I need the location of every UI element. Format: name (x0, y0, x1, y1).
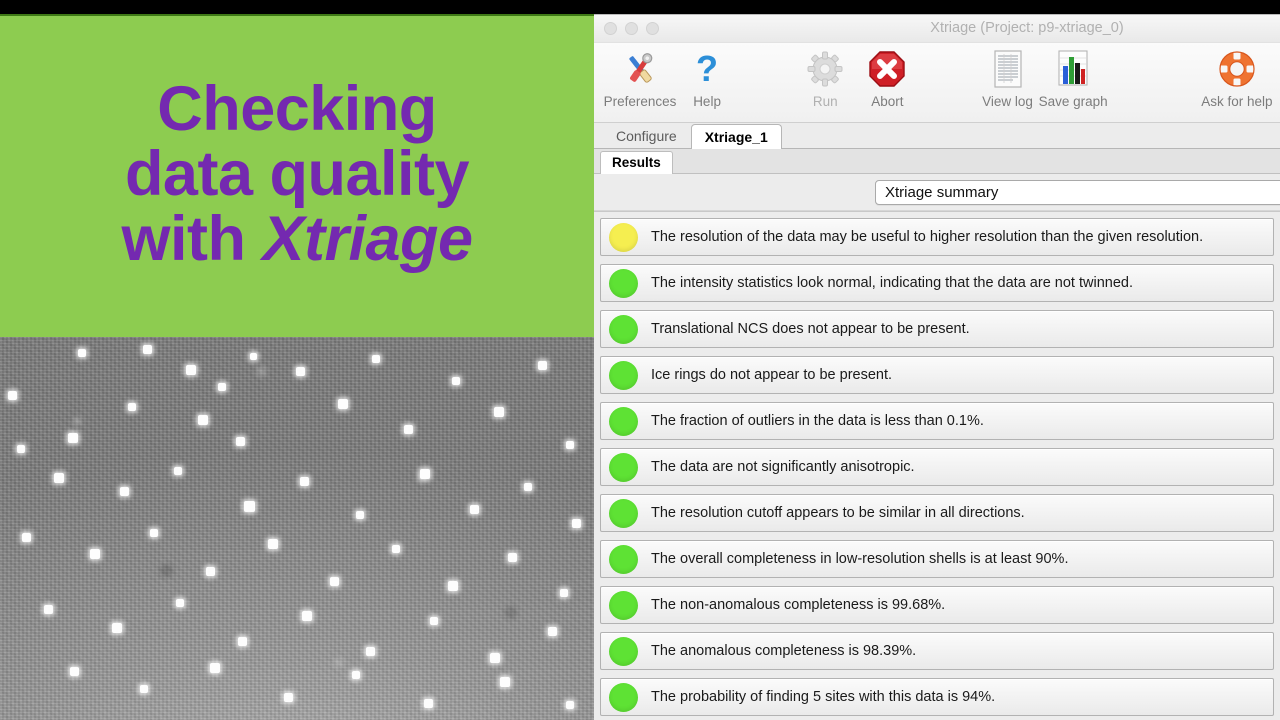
tab-configure[interactable]: Configure (602, 123, 691, 148)
main-toolbar: Preferences ? Help (594, 43, 1280, 123)
svg-text:?: ? (696, 50, 718, 88)
result-text: The overall completeness in low-resoluti… (651, 551, 1068, 567)
toolbar-button-save-graph[interactable]: Save graph (1039, 47, 1108, 109)
toolbar-button-view-log[interactable]: View log (976, 47, 1038, 109)
toolbar-label-run: Run (813, 94, 838, 109)
slide-title-line-3-text: with (121, 204, 262, 274)
question-mark-icon: ? (690, 47, 724, 91)
result-text: The intensity statistics look normal, in… (651, 275, 1133, 291)
toolbar-label-view-log: View log (982, 94, 1033, 109)
diffraction-grain (0, 337, 594, 720)
slide-title-panel: Checking data quality with Xtriage (0, 14, 594, 337)
results-subtabbar: Results (594, 149, 1280, 174)
status-indicator-green-icon (609, 361, 638, 390)
result-row[interactable]: The fraction of outliers in the data is … (600, 402, 1274, 440)
results-list[interactable]: The resolution of the data may be useful… (594, 211, 1280, 720)
slide-title-line-1: Checking (157, 77, 437, 142)
toolbar-label-preferences: Preferences (604, 94, 677, 109)
window-titlebar: Xtriage (Project: p9-xtriage_0) (594, 15, 1280, 43)
result-text: The fraction of outliers in the data is … (651, 413, 984, 429)
toolbar-button-abort[interactable]: Abort (856, 47, 918, 109)
result-row[interactable]: The anomalous completeness is 98.39%. (600, 632, 1274, 670)
subtab-results[interactable]: Results (600, 151, 673, 174)
result-row[interactable]: The overall completeness in low-resoluti… (600, 540, 1274, 578)
result-text: Translational NCS does not appear to be … (651, 321, 970, 337)
result-row[interactable]: Translational NCS does not appear to be … (600, 310, 1274, 348)
result-row[interactable]: Ice rings do not appear to be present. (600, 356, 1274, 394)
result-row[interactable]: The non-anomalous completeness is 99.68%… (600, 586, 1274, 624)
toolbar-button-ask-for-help[interactable]: Ask for help (1194, 47, 1280, 109)
project-tabbar: Configure Xtriage_1 (594, 123, 1280, 149)
stop-x-icon (869, 47, 905, 91)
status-indicator-green-icon (609, 407, 638, 436)
tab-xtriage-1[interactable]: Xtriage_1 (691, 124, 782, 149)
summary-combobox-value: Xtriage summary (885, 184, 998, 201)
diffraction-image (0, 337, 594, 720)
status-indicator-green-icon (609, 545, 638, 574)
toolbar-label-ask-for-help: Ask for help (1201, 94, 1272, 109)
status-indicator-green-icon (609, 269, 638, 298)
result-text: The probability of finding 5 sites with … (651, 689, 995, 705)
toolbar-button-run[interactable]: Run (794, 47, 856, 109)
toolbar-button-help[interactable]: ? Help (676, 47, 738, 109)
result-text: The data are not significantly anisotrop… (651, 459, 915, 475)
document-icon (993, 47, 1023, 91)
slide-title-line-2: data quality (125, 142, 469, 207)
presentation-slide: Checking data quality with Xtriage (0, 14, 594, 720)
toolbar-label-abort: Abort (871, 94, 903, 109)
slide-title-emphasis: Xtriage (262, 204, 472, 274)
result-row[interactable]: The data are not significantly anisotrop… (600, 448, 1274, 486)
result-row[interactable]: The resolution cutoff appears to be simi… (600, 494, 1274, 532)
status-indicator-green-icon (609, 315, 638, 344)
window-title: Xtriage (Project: p9-xtriage_0) (594, 20, 1280, 36)
status-indicator-green-icon (609, 683, 638, 712)
result-row[interactable]: The probability of finding 5 sites with … (600, 678, 1274, 716)
result-text: The anomalous completeness is 98.39%. (651, 643, 916, 659)
result-row[interactable]: The intensity statistics look normal, in… (600, 264, 1274, 302)
bar-chart-icon (1057, 47, 1089, 91)
tools-icon (621, 47, 659, 91)
xtriage-window: Xtriage (Project: p9-xtriage_0) (594, 14, 1280, 720)
screen-capture: Checking data quality with Xtriage (0, 0, 1280, 720)
result-text: Ice rings do not appear to be present. (651, 367, 892, 383)
summary-selector-row: Xtriage summary (594, 174, 1280, 211)
lifebuoy-icon (1218, 47, 1256, 91)
status-indicator-green-icon (609, 591, 638, 620)
result-row[interactable]: The resolution of the data may be useful… (600, 218, 1274, 256)
toolbar-button-preferences[interactable]: Preferences (604, 47, 676, 109)
toolbar-label-help: Help (693, 94, 721, 109)
slide-title-line-3: with Xtriage (121, 207, 472, 272)
result-text: The non-anomalous completeness is 99.68%… (651, 597, 945, 613)
gear-icon (807, 47, 843, 91)
toolbar-label-save-graph: Save graph (1039, 94, 1108, 109)
status-indicator-green-icon (609, 637, 638, 666)
result-text: The resolution of the data may be useful… (651, 229, 1203, 245)
summary-combobox[interactable]: Xtriage summary (875, 180, 1280, 205)
status-indicator-green-icon (609, 453, 638, 482)
status-indicator-yellow-icon (609, 223, 638, 252)
status-indicator-green-icon (609, 499, 638, 528)
result-text: The resolution cutoff appears to be simi… (651, 505, 1025, 521)
